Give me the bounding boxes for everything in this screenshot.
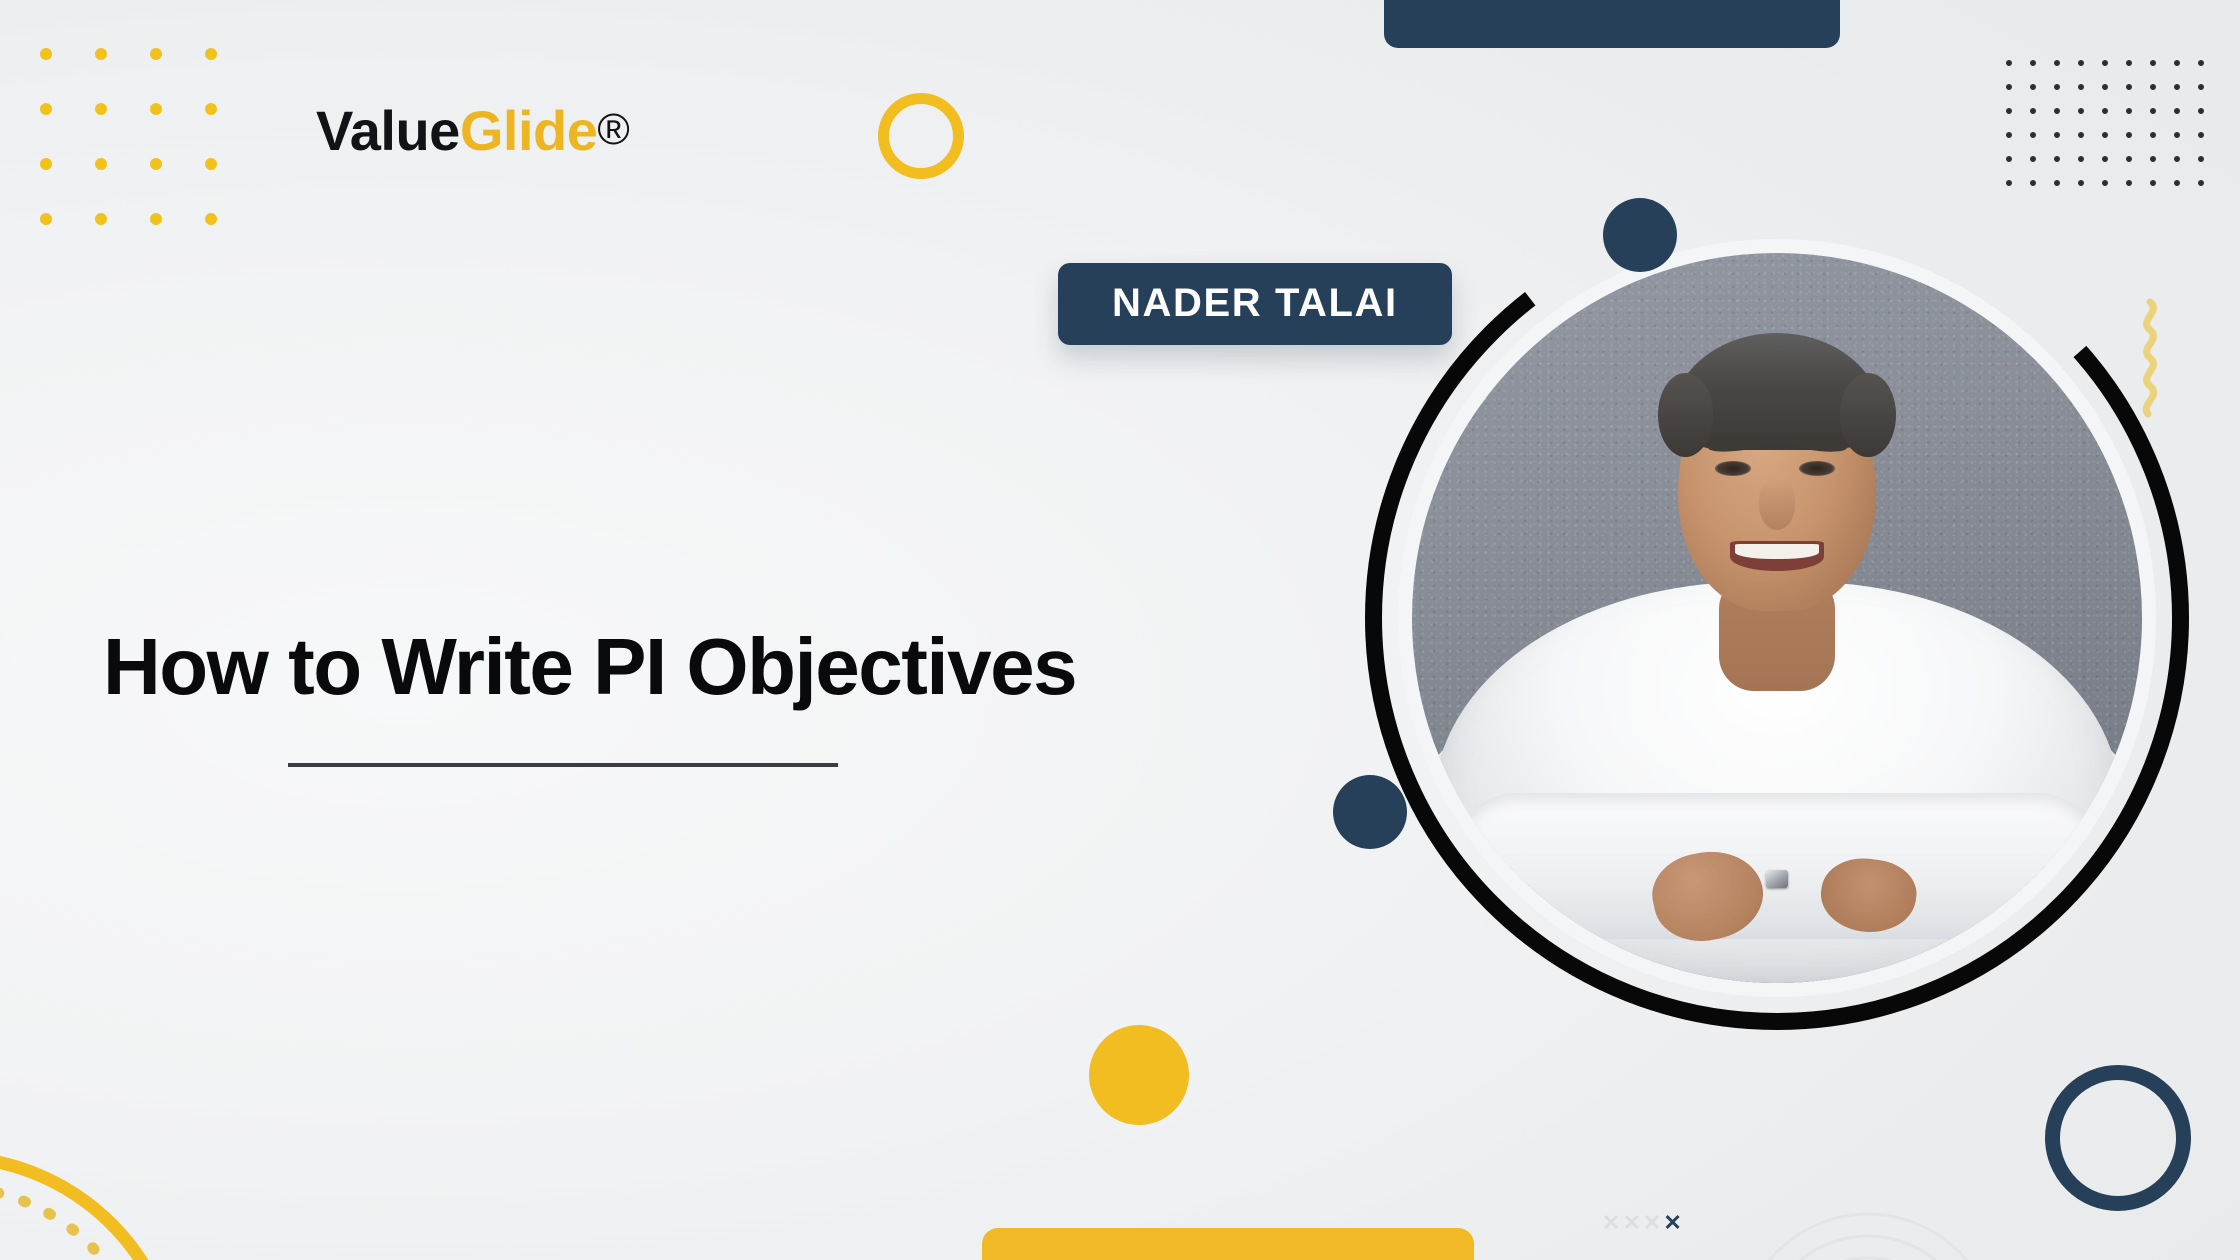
dark-dot xyxy=(2102,156,2108,162)
dark-dot xyxy=(2174,132,2180,138)
registered-trademark-icon: ® xyxy=(597,105,629,154)
dark-dot xyxy=(2006,180,2012,186)
dark-dot xyxy=(2030,132,2036,138)
dark-dot xyxy=(2030,84,2036,90)
dark-dot xyxy=(2150,108,2156,114)
speaker-name-label: NADER TALAI xyxy=(1112,283,1398,323)
gold-dot xyxy=(205,48,217,60)
gold-dot xyxy=(40,103,52,115)
presentation-slide: ValueGlide® How to Write PI Objectives N… xyxy=(0,0,2240,1260)
dark-dot xyxy=(2030,156,2036,162)
dark-dot xyxy=(2150,132,2156,138)
x-mark-icon: ✕ xyxy=(1602,1212,1620,1234)
logo-text-primary: Value xyxy=(316,99,460,162)
dark-dot xyxy=(2126,84,2132,90)
logo-text-secondary: Glide xyxy=(460,99,598,162)
dark-dot xyxy=(2006,108,2012,114)
dark-dot xyxy=(2150,180,2156,186)
speaker-portrait xyxy=(1357,198,2197,1038)
gold-dot xyxy=(150,48,162,60)
dark-dot xyxy=(2102,180,2108,186)
dark-dot xyxy=(2102,108,2108,114)
gold-ring-decoration xyxy=(878,93,964,179)
dark-dot xyxy=(2078,60,2084,66)
dark-dot xyxy=(2078,180,2084,186)
gold-dot xyxy=(205,158,217,170)
dark-dot xyxy=(2126,180,2132,186)
gold-bar-bottom-decoration xyxy=(982,1228,1474,1260)
dark-dot xyxy=(2078,132,2084,138)
dark-dot xyxy=(2198,156,2204,162)
dark-dot xyxy=(2078,108,2084,114)
dark-dot xyxy=(2030,108,2036,114)
dark-dot xyxy=(2054,156,2060,162)
smiling-mouth xyxy=(1730,541,1825,570)
dark-dot xyxy=(2198,84,2204,90)
dark-dot xyxy=(2126,108,2132,114)
gold-dot xyxy=(95,48,107,60)
speaker-name-badge: NADER TALAI xyxy=(1058,263,1452,345)
title-underline-rule xyxy=(288,763,838,767)
gold-dot xyxy=(95,103,107,115)
dark-dot-grid-decoration xyxy=(2006,60,2222,204)
dark-dot xyxy=(2126,156,2132,162)
dark-dot xyxy=(2174,84,2180,90)
folded-forearms xyxy=(1456,793,2098,939)
dark-dot xyxy=(2174,156,2180,162)
dark-dot xyxy=(2054,132,2060,138)
gold-dot xyxy=(95,213,107,225)
left-eye xyxy=(1715,461,1752,476)
faint-concentric-arcs-decoration xyxy=(1718,1182,2018,1260)
dark-dot xyxy=(2102,132,2108,138)
dark-dot xyxy=(2198,108,2204,114)
dark-dot xyxy=(2150,84,2156,90)
x-mark-icon-solid: ✕ xyxy=(1663,1212,1681,1234)
navy-bar-top-decoration xyxy=(1384,0,1840,48)
valueglide-logo: ValueGlide® xyxy=(316,103,629,159)
portrait-photo-image xyxy=(1412,253,2142,983)
gold-dot xyxy=(95,158,107,170)
dark-dot xyxy=(2198,180,2204,186)
gold-circle-decoration xyxy=(1089,1025,1189,1125)
x-mark-icon: ✕ xyxy=(1643,1212,1661,1234)
gold-dot xyxy=(40,213,52,225)
gold-dot xyxy=(150,103,162,115)
gold-dot xyxy=(150,213,162,225)
right-eye xyxy=(1799,461,1836,476)
gold-dot-grid-decoration xyxy=(40,48,260,268)
dark-dot xyxy=(2054,84,2060,90)
dark-dot xyxy=(2006,156,2012,162)
dark-dot xyxy=(2006,132,2012,138)
dark-dot xyxy=(2174,180,2180,186)
navy-ring-decoration xyxy=(2045,1065,2191,1211)
dark-dot xyxy=(2174,60,2180,66)
dark-dot xyxy=(2126,132,2132,138)
dark-dot xyxy=(2078,156,2084,162)
dark-dot xyxy=(2174,108,2180,114)
x-marks-decoration: ✕ ✕ ✕ ✕ xyxy=(1602,1212,1682,1234)
dark-dot xyxy=(2126,60,2132,66)
dark-dot xyxy=(2102,84,2108,90)
x-mark-icon: ✕ xyxy=(1622,1212,1640,1234)
navy-accent-circle-top xyxy=(1603,198,1677,272)
page-title: How to Write PI Objectives xyxy=(103,625,1333,709)
dark-dot xyxy=(2150,156,2156,162)
navy-accent-circle-left xyxy=(1333,775,1407,849)
dark-dot xyxy=(2102,60,2108,66)
dark-dot xyxy=(2006,60,2012,66)
dark-dot xyxy=(2150,60,2156,66)
dark-dot xyxy=(2054,180,2060,186)
dark-dot xyxy=(2054,108,2060,114)
gold-arc-decoration xyxy=(0,1085,240,1260)
dark-dot xyxy=(2078,84,2084,90)
gold-dot xyxy=(205,213,217,225)
dark-dot xyxy=(2198,132,2204,138)
dark-dot xyxy=(2030,180,2036,186)
gold-dot xyxy=(150,158,162,170)
dark-dot xyxy=(2198,60,2204,66)
gold-dot xyxy=(40,158,52,170)
dark-dot xyxy=(2030,60,2036,66)
dark-dot xyxy=(2054,60,2060,66)
gold-dot xyxy=(40,48,52,60)
cufflink xyxy=(1766,870,1788,888)
gold-dot xyxy=(205,103,217,115)
dark-dot xyxy=(2006,84,2012,90)
